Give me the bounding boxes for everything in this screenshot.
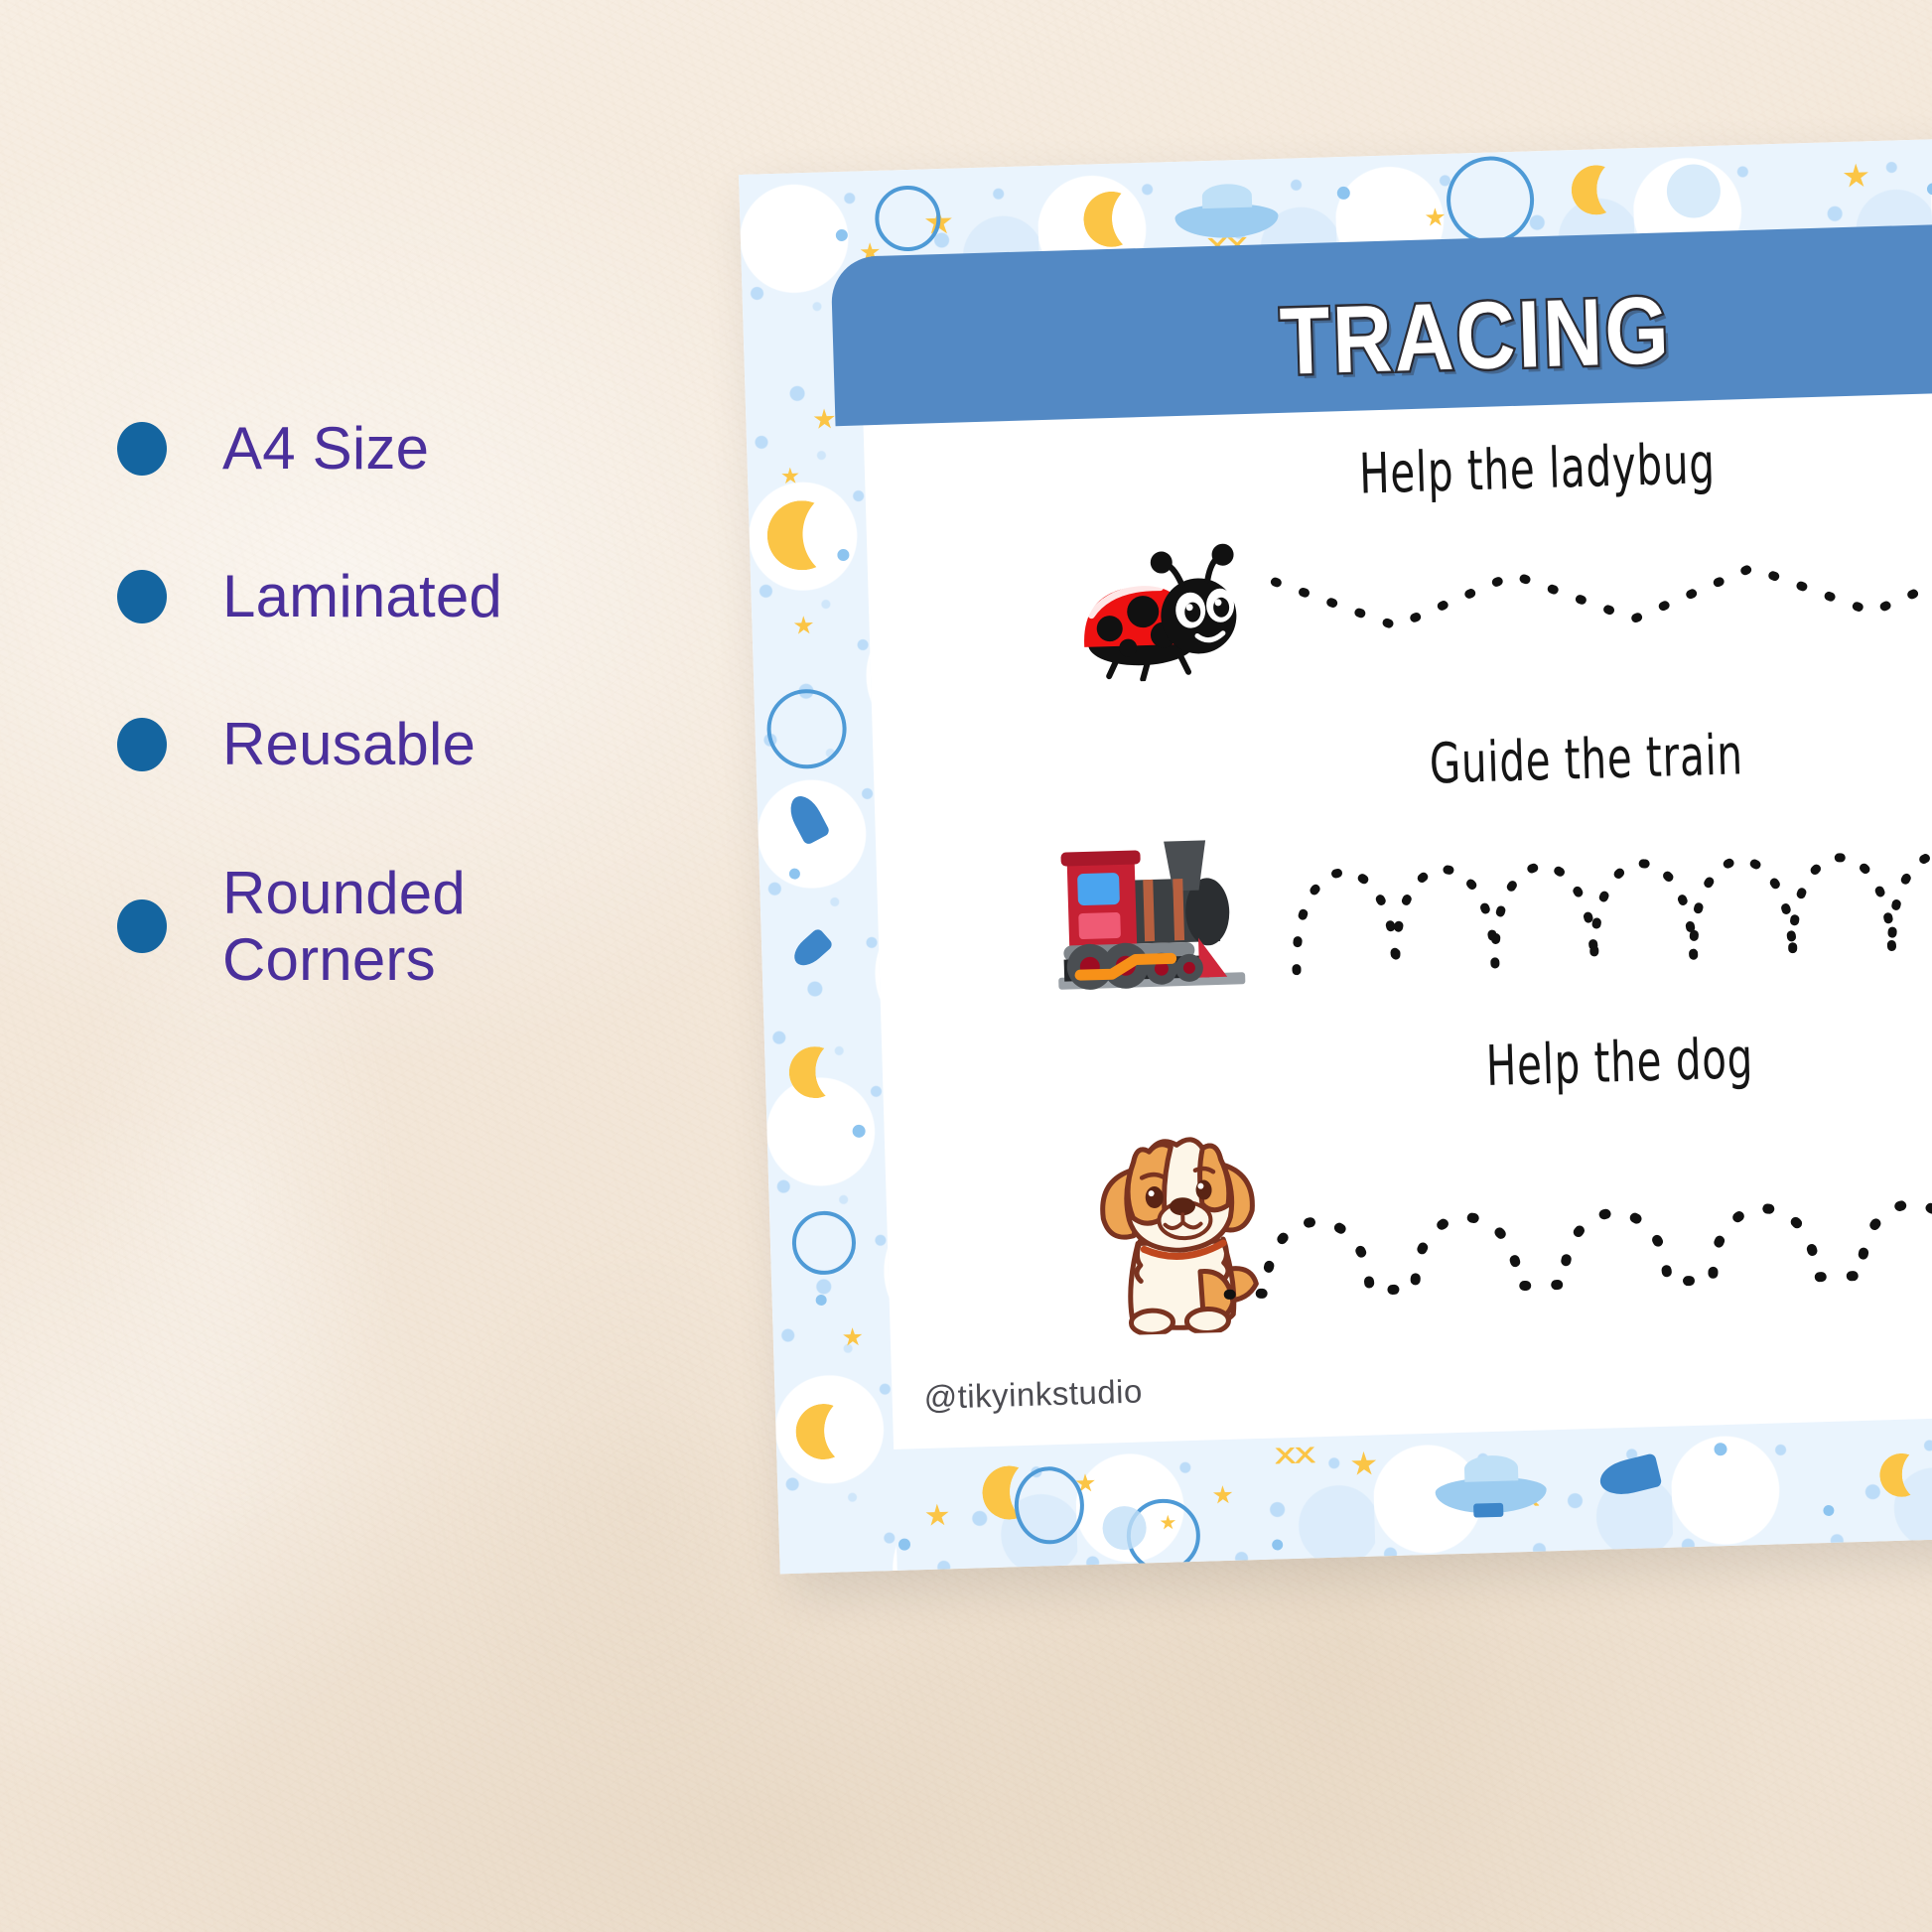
tracing-row-ladybug: Help the ladybug — [864, 420, 1932, 706]
worksheet-mockup: TRACING Help the ladybug — [739, 131, 1932, 1575]
feature-item-reusable: Reusable — [117, 711, 713, 777]
tracing-row-train: Guide the train — [873, 712, 1932, 1037]
bullet-dot-icon — [117, 570, 167, 623]
instruction-text: Help the dog — [1485, 1027, 1754, 1099]
worksheet-page: TRACING Help the ladybug — [739, 131, 1932, 1575]
bullet-dot-icon — [117, 718, 167, 771]
feature-item-a4-size: A4 Size — [117, 415, 713, 482]
tracing-path-bumps — [1217, 1153, 1932, 1312]
tracing-path-zigzag — [1265, 533, 1932, 652]
instruction-text: Help the ladybug — [1358, 432, 1716, 507]
bullet-dot-icon — [117, 899, 167, 953]
feature-list: A4 Size Laminated Reusable Rounded Corne… — [117, 415, 713, 993]
tracing-path-wave — [1283, 802, 1932, 991]
feature-label: Laminated — [222, 563, 502, 629]
feature-label: Rounded Corners — [222, 860, 466, 993]
watermark-text: @tikyinkstudio — [923, 1372, 1143, 1417]
feature-label: Reusable — [222, 711, 476, 777]
train-icon — [1046, 830, 1280, 996]
instruction-text: Guide the train — [1429, 723, 1744, 796]
bullet-dot-icon — [117, 422, 167, 476]
feature-item-rounded-corners: Rounded Corners — [117, 860, 713, 993]
feature-item-laminated: Laminated — [117, 563, 713, 629]
tracing-row-dog: Help the dog — [882, 1015, 1932, 1350]
ladybug-icon — [1055, 533, 1258, 684]
feature-label: A4 Size — [222, 415, 429, 482]
